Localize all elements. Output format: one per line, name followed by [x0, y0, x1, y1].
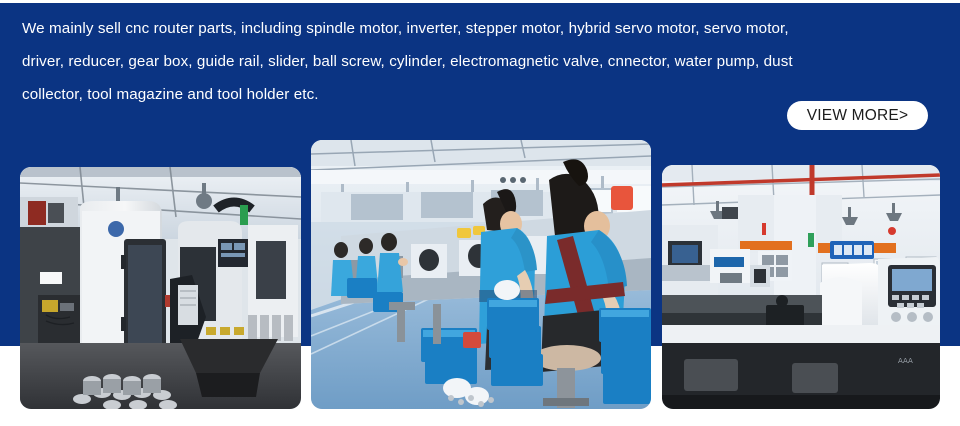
description-line-2: driver, reducer, gear box, guide rail, s… [22, 45, 932, 78]
product-description-text: We mainly sell cnc router parts, includi… [22, 12, 932, 111]
promo-banner: We mainly sell cnc router parts, includi… [0, 0, 960, 426]
description-line-1: We mainly sell cnc router parts, includi… [22, 12, 932, 45]
cnc-machining-center-illustration [20, 167, 301, 409]
svg-text:AAA: AAA [898, 357, 913, 365]
assembly-line-illustration [311, 140, 651, 409]
gallery-photo-cnc-machining-center[interactable] [20, 167, 301, 409]
gallery-photo-cnc-lathe-hall[interactable]: AAA [662, 165, 940, 409]
gallery-photo-assembly-line[interactable] [311, 140, 651, 409]
view-more-button[interactable]: VIEW MORE> [787, 101, 928, 130]
cnc-lathe-hall-illustration: AAA [662, 165, 940, 409]
view-more-label: VIEW MORE> [807, 107, 908, 125]
